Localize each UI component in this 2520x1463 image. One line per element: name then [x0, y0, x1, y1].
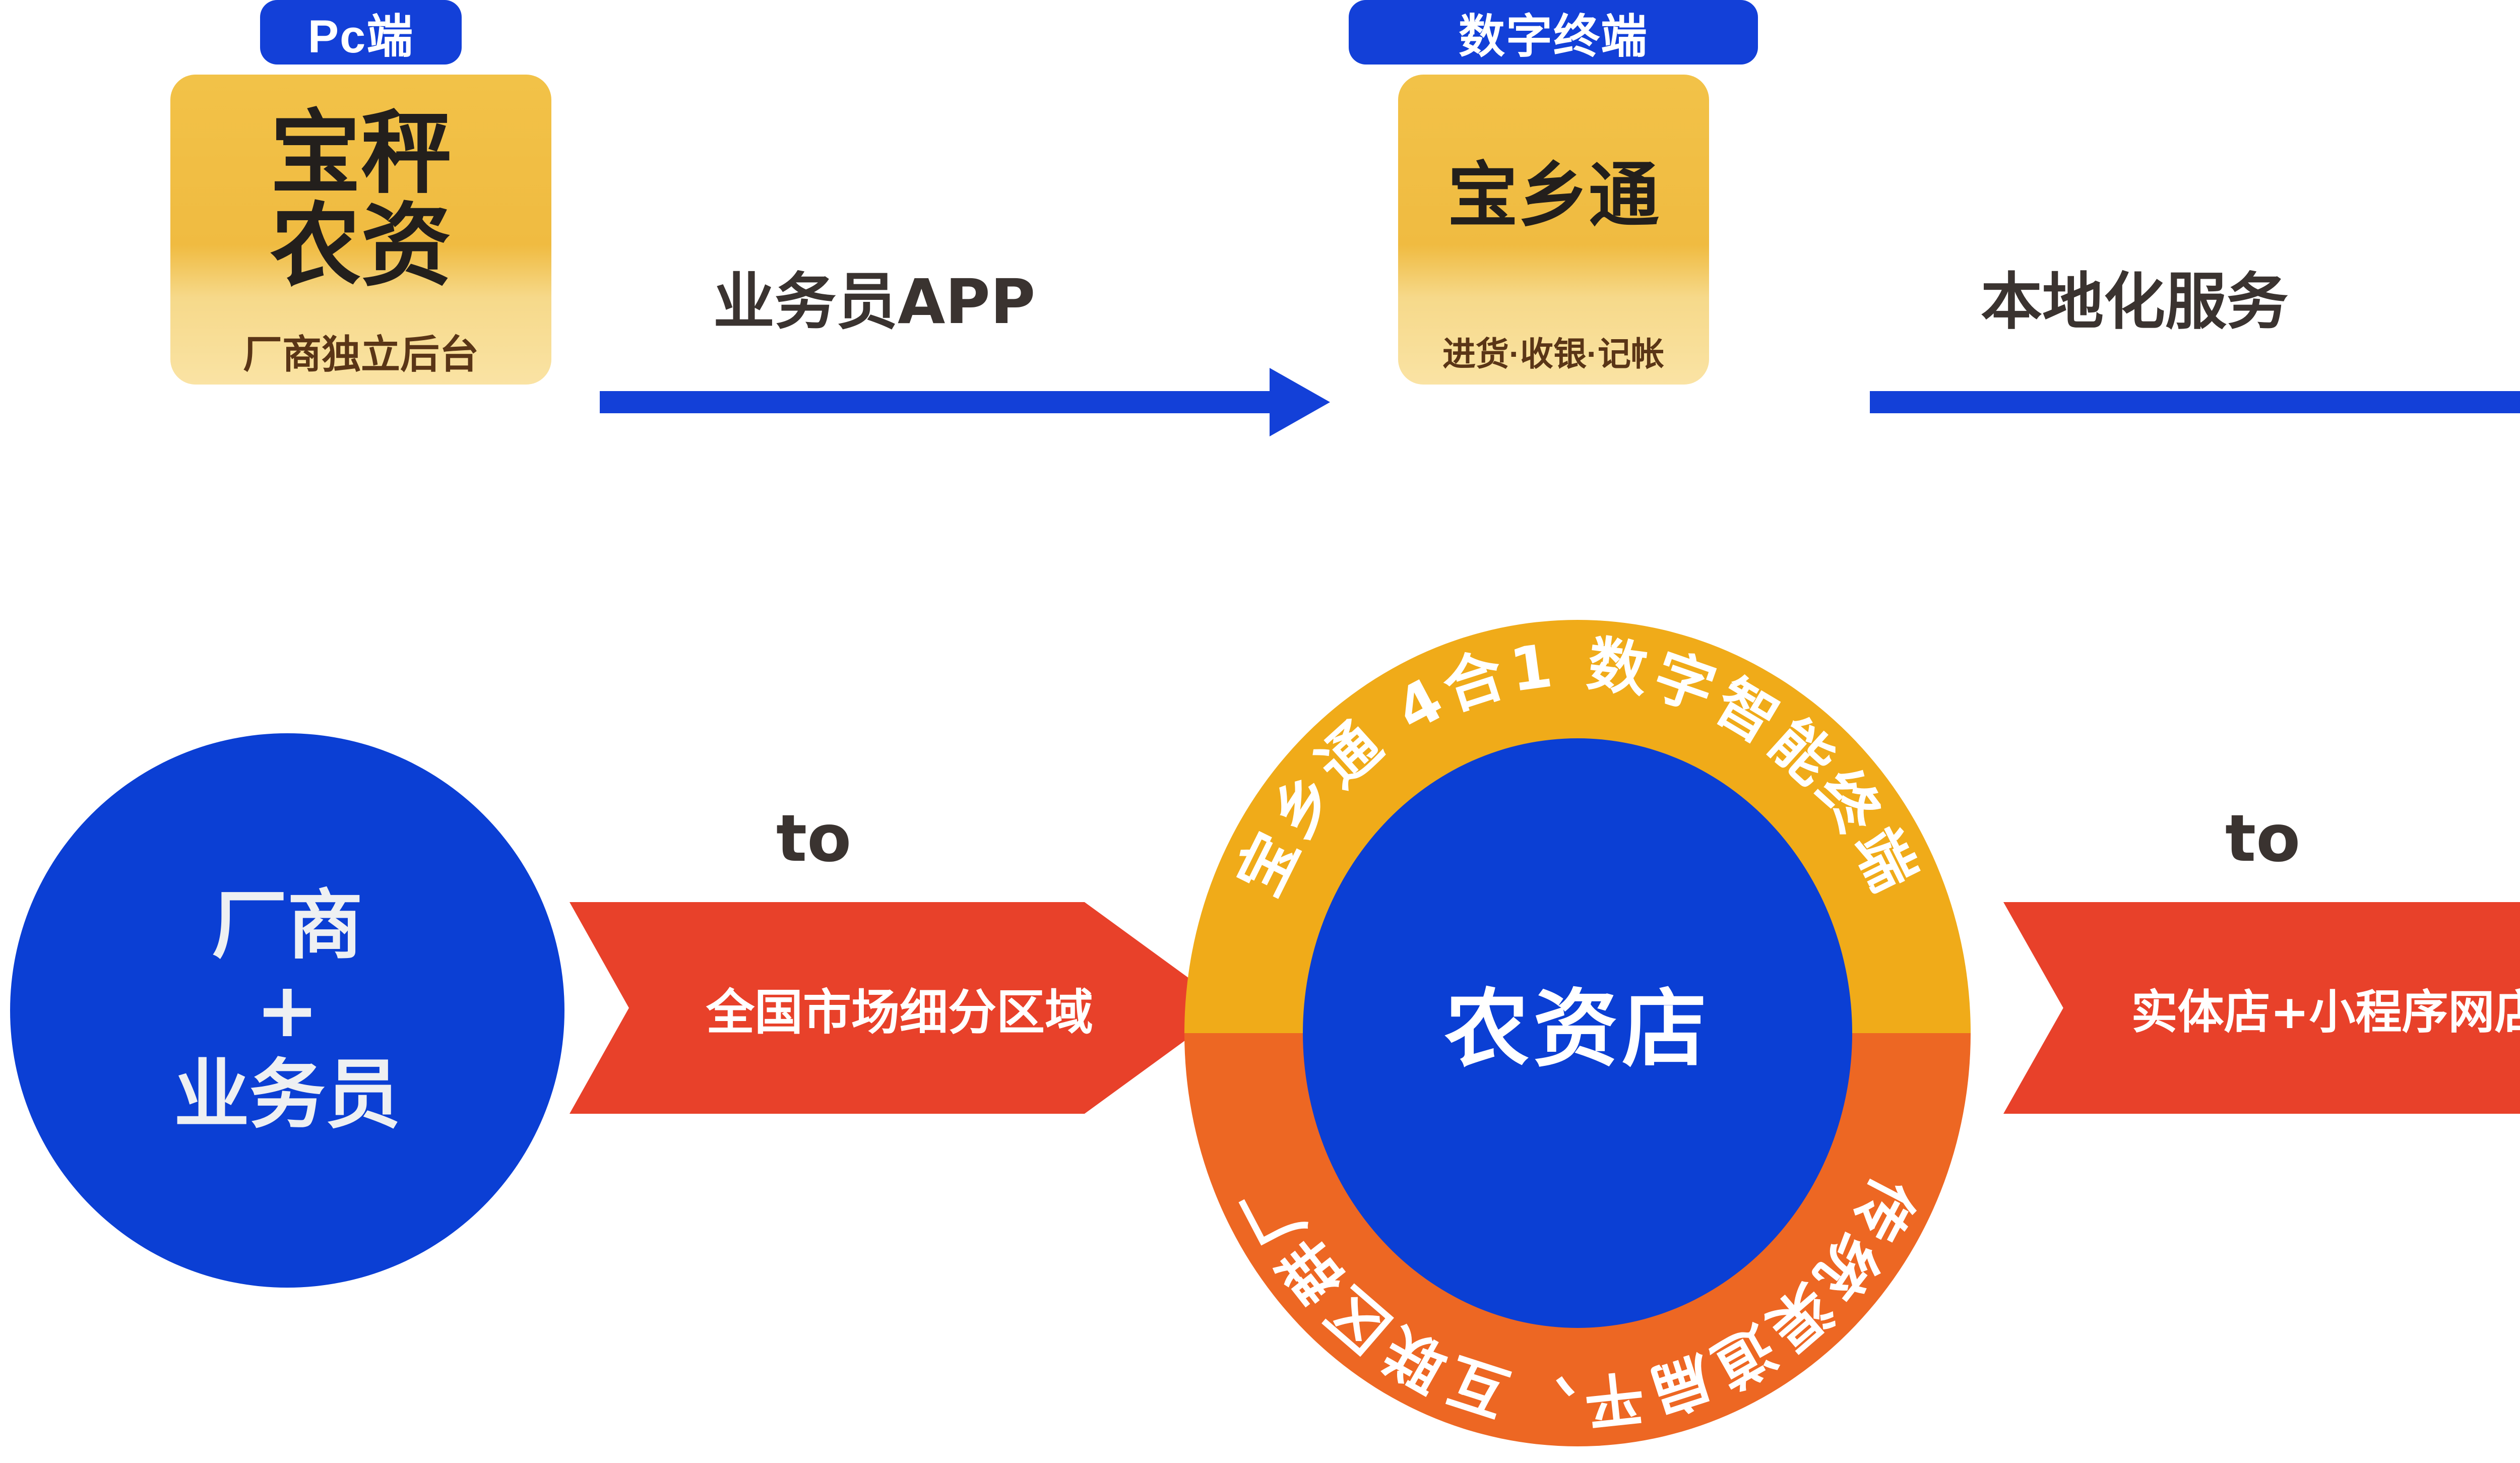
channel-column-pc: Pc端 宝秤 农资 厂商独立后台: [170, 0, 551, 385]
channel-tag-label: Pc端: [308, 0, 414, 66]
channel-tag-pc[interactable]: Pc端: [260, 0, 462, 65]
node-manufacturer-line3: 业务员: [174, 1053, 401, 1137]
blue-arrow-2: [1870, 368, 2520, 436]
diagram-canvas: Pc端 宝秤 农资 厂商独立后台 数字终端 宝乡通: [0, 0, 2520, 1463]
flow-arrow-2-text: 实体店+小程序网店: [2131, 975, 2520, 1042]
blue-arrow-label-1-text: 业务员APP: [713, 266, 1035, 338]
blue-arrow-2-shaft: [1870, 391, 2520, 413]
channel-tag-terminal[interactable]: 数字终端: [1349, 0, 1758, 65]
blue-arrow-1-shaft: [600, 391, 1270, 413]
blue-arrow-label-1: 业务员APP: [713, 252, 1035, 341]
center-ring-svg: 宝乡通 4合1 数字智能终端 传统渠道扁平、互联区群厂 农资店: [1139, 605, 2016, 1461]
flow-arrow-1[interactable]: 全国市场细分区域: [570, 902, 1230, 1114]
app-caption-pc: 厂商独立后台: [170, 318, 551, 385]
app-caption-label: 进货·收银·记帐: [1442, 327, 1664, 375]
app-card-pc[interactable]: 宝秤 农资 厂商独立后台: [170, 75, 551, 385]
channel-tag-label: 数字终端: [1459, 0, 1648, 66]
blue-arrow-label-2-text: 本地化服务: [1981, 266, 2288, 338]
app-logo-line2: 农资: [270, 200, 452, 293]
node-manufacturer-line1: 厂商: [174, 883, 401, 968]
flow-to-label-2: to: [2225, 801, 2300, 876]
node-manufacturer-stack: 厂商 + 业务员: [174, 883, 401, 1137]
flow-arrow-2-label: 实体店+小程序网店: [2003, 902, 2520, 1114]
flow-arrow-2[interactable]: 实体店+小程序网店: [2003, 902, 2520, 1114]
blue-arrow-label-2: 本地化服务: [1981, 252, 2288, 341]
app-logo-line1: 宝乡通: [1447, 160, 1659, 232]
flow-to-text-1: to: [776, 801, 851, 876]
app-caption-terminal: 进货·收银·记帐: [1398, 318, 1709, 385]
center-ring[interactable]: 宝乡通 4合1 数字智能终端 传统渠道扁平、互联区群厂 农资店: [1139, 605, 2016, 1461]
node-manufacturer[interactable]: 厂商 + 业务员: [10, 733, 564, 1288]
flow-arrow-1-text: 全国市场细分区域: [706, 973, 1093, 1043]
node-manufacturer-plus: +: [174, 968, 401, 1053]
app-caption-label: 厂商独立后台: [243, 323, 479, 379]
flow-to-text-2: to: [2225, 801, 2300, 876]
app-logo-terminal: 宝乡通: [1398, 75, 1709, 318]
flow-to-label-1: to: [776, 801, 851, 876]
blue-arrow-1: [600, 368, 1330, 436]
blue-arrow-1-head: [1270, 368, 1330, 436]
channel-column-terminal: 数字终端 宝乡通 进货·收银·记帐: [1349, 0, 1758, 385]
app-logo-line1: 宝秤: [270, 107, 452, 200]
app-card-terminal[interactable]: 宝乡通 进货·收银·记帐: [1398, 75, 1709, 385]
node-store-label: 农资店: [1444, 980, 1711, 1078]
app-logo-pc: 宝秤 农资: [170, 75, 551, 318]
